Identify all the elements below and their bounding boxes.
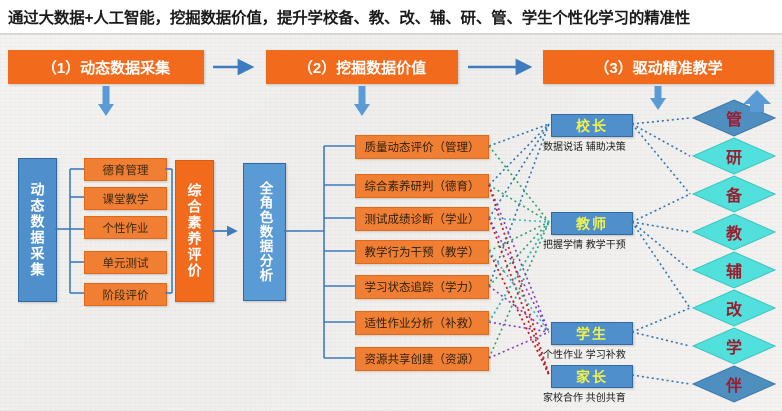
page-title: 通过大数据+人工智能，挖掘数据价值，提升学校备、教、改、辅、研、管、学生个性化学…: [0, 6, 690, 28]
connector-collector-to-sources: [55, 169, 84, 293]
connector-analysis-to-functions: [284, 146, 355, 358]
collect-label: 动态数据采集: [28, 182, 48, 278]
connector-parent-to-outcomes: [632, 375, 690, 384]
down-arrow-step-1: [98, 86, 114, 116]
outcome-diamond-yan[interactable]: 研: [692, 137, 776, 175]
role-box-principal[interactable]: 校长: [551, 114, 633, 137]
outcome-label: 教: [726, 220, 742, 244]
down-arrow-step-3: [650, 86, 666, 110]
comprehensive-literacy-evaluation-box[interactable]: 综合素养评价: [175, 160, 214, 302]
outcome-diamond-fu[interactable]: 辅: [692, 251, 776, 289]
function-box-quality-eval[interactable]: 质量动态评价（管理）: [355, 135, 489, 159]
title-divider: [0, 33, 782, 35]
slide-canvas: 通过大数据+人工智能，挖掘数据价值，提升学校备、教、改、辅、研、管、学生个性化学…: [0, 0, 782, 411]
connector-functions-to-student: [489, 185, 549, 358]
source-box-stage-eval[interactable]: 阶段评价: [84, 283, 167, 306]
source-box-classroom[interactable]: 课堂教学: [84, 187, 167, 210]
down-arrow-step-2: [354, 86, 370, 116]
role-box-teacher[interactable]: 教师: [551, 212, 633, 235]
role-box-parent[interactable]: 家长: [551, 365, 633, 388]
outcome-label: 改: [726, 296, 742, 320]
connector-functions-to-principal: [489, 124, 549, 286]
header-step-2[interactable]: （2）挖掘数据价值: [266, 50, 458, 84]
function-box-learning-track[interactable]: 学习状态追踪（学力）: [355, 275, 489, 299]
role-caption-principal: 数据说话 辅助决策: [543, 138, 626, 153]
full-role-data-analysis-box[interactable]: 全角色数据分析: [243, 163, 286, 301]
outcome-label: 学: [726, 334, 742, 358]
outcome-diamond-gai[interactable]: 改: [692, 289, 776, 327]
connector-student-to-outcomes: [632, 308, 690, 346]
connector-functions-to-parent: [489, 185, 549, 375]
dynamic-data-collection-box[interactable]: 动态数据采集: [18, 158, 57, 302]
outcome-diamond-xue[interactable]: 学: [692, 327, 776, 365]
analysis-label: 全角色数据分析: [255, 181, 275, 283]
function-box-teaching-intervene[interactable]: 教学行为干预（教学）: [355, 240, 489, 264]
role-caption-parent: 家校合作 共创共育: [543, 389, 626, 404]
function-box-score-diagnosis[interactable]: 测试成绩诊断（学业）: [355, 207, 489, 231]
function-box-adaptive-homework[interactable]: 适性作业分析（补救）: [355, 311, 489, 335]
outcome-diamond-bei[interactable]: 备: [692, 175, 776, 213]
function-box-literacy-judge[interactable]: 综合素养研判（德育）: [355, 174, 489, 198]
role-caption-teacher: 把握学情 教学干预: [543, 236, 626, 251]
connector-functions-to-teacher: [489, 146, 549, 358]
eval-label: 综合素养评价: [185, 183, 205, 279]
role-caption-student: 个性作业 学习补救: [543, 346, 626, 361]
outcome-diamond-jiao[interactable]: 教: [692, 213, 776, 251]
source-box-moral[interactable]: 德育管理: [84, 158, 167, 181]
source-box-homework[interactable]: 个性作业: [84, 216, 167, 239]
role-box-student[interactable]: 学生: [551, 322, 633, 345]
connector-teacher-to-outcomes: [632, 194, 690, 308]
outcome-label: 备: [726, 182, 742, 206]
header-step-3[interactable]: （3）驱动精准教学: [543, 50, 774, 84]
slide-title-bar: 通过大数据+人工智能，挖掘数据价值，提升学校备、教、改、辅、研、管、学生个性化学…: [0, 0, 782, 33]
outcome-label: 管: [726, 106, 742, 130]
connector-functions-cyan-extra: [489, 218, 549, 332]
outcome-label: 伴: [726, 372, 742, 396]
outcome-diamond-guan[interactable]: 管: [692, 99, 776, 137]
source-box-unittest[interactable]: 单元测试: [84, 251, 167, 274]
outcome-label: 辅: [726, 258, 742, 282]
header-step-1[interactable]: （1）动态数据采集: [8, 50, 204, 84]
connector-principal-to-outcomes: [632, 118, 690, 194]
outcome-label: 研: [726, 144, 742, 168]
outcome-diamond-ban[interactable]: 伴: [692, 365, 776, 403]
function-box-resource-share[interactable]: 资源共享创建（资源）: [355, 347, 489, 371]
